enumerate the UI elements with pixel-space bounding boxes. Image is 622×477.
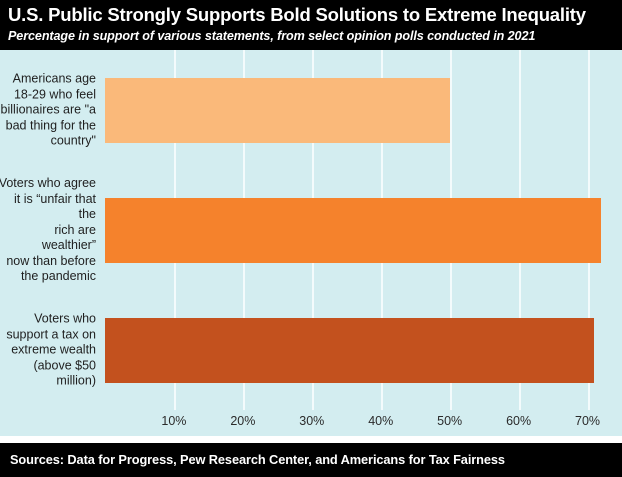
y-axis-category-label: Americans age18-29 who feelbillionaires …	[0, 71, 96, 149]
x-axis-tick-label: 10%	[161, 414, 186, 428]
chart-title: U.S. Public Strongly Supports Bold Solut…	[8, 3, 614, 27]
category-label-line: country"	[0, 133, 96, 149]
bar[interactable]	[105, 198, 601, 263]
x-axis-tick-label: 40%	[368, 414, 393, 428]
category-label-line: million)	[0, 373, 96, 389]
category-label-line: it is “unfair that the	[0, 191, 96, 222]
x-axis-tick-label: 30%	[299, 414, 324, 428]
bar-row: Voters whosupport a tax onextreme wealth…	[105, 318, 622, 383]
x-axis-tick-label: 70%	[575, 414, 600, 428]
chart-figure: U.S. Public Strongly Supports Bold Solut…	[0, 0, 622, 477]
category-label-line: support a tax on	[0, 327, 96, 343]
bar[interactable]	[105, 78, 450, 143]
plot-area: 10%20%30%40%50%60%70%Americans age18-29 …	[0, 50, 622, 436]
category-label-line: now than before	[0, 253, 96, 269]
y-axis-category-label: Voters who agreeit is “unfair that theri…	[0, 176, 96, 285]
bar[interactable]	[105, 318, 594, 383]
x-axis-tick-label: 60%	[506, 414, 531, 428]
category-label-line: 18-29 who feel	[0, 87, 96, 103]
category-label-line: bad thing for the	[0, 118, 96, 134]
category-label-line: billionaires are "a	[0, 102, 96, 118]
chart-subtitle: Percentage in support of various stateme…	[8, 27, 614, 45]
category-label-line: (above $50	[0, 358, 96, 374]
chart-axes: 10%20%30%40%50%60%70%Americans age18-29 …	[105, 50, 622, 410]
y-axis-category-label: Voters whosupport a tax onextreme wealth…	[0, 311, 96, 389]
category-label-line: rich are wealthier”	[0, 222, 96, 253]
chart-header-band: U.S. Public Strongly Supports Bold Solut…	[0, 0, 622, 50]
x-axis-tick-label: 50%	[437, 414, 462, 428]
category-label-line: extreme wealth	[0, 342, 96, 358]
x-axis-tick-label: 20%	[230, 414, 255, 428]
chart-footer-band: Sources: Data for Progress, Pew Research…	[0, 443, 622, 477]
category-label-line: the pandemic	[0, 269, 96, 285]
footer-spacer	[0, 436, 622, 443]
sources-note: Sources: Data for Progress, Pew Research…	[10, 451, 612, 468]
category-label-line: Voters who	[0, 311, 96, 327]
category-label-line: Voters who agree	[0, 176, 96, 192]
category-label-line: Americans age	[0, 71, 96, 87]
bar-row: Voters who agreeit is “unfair that theri…	[105, 198, 622, 263]
bar-row: Americans age18-29 who feelbillionaires …	[105, 78, 622, 143]
